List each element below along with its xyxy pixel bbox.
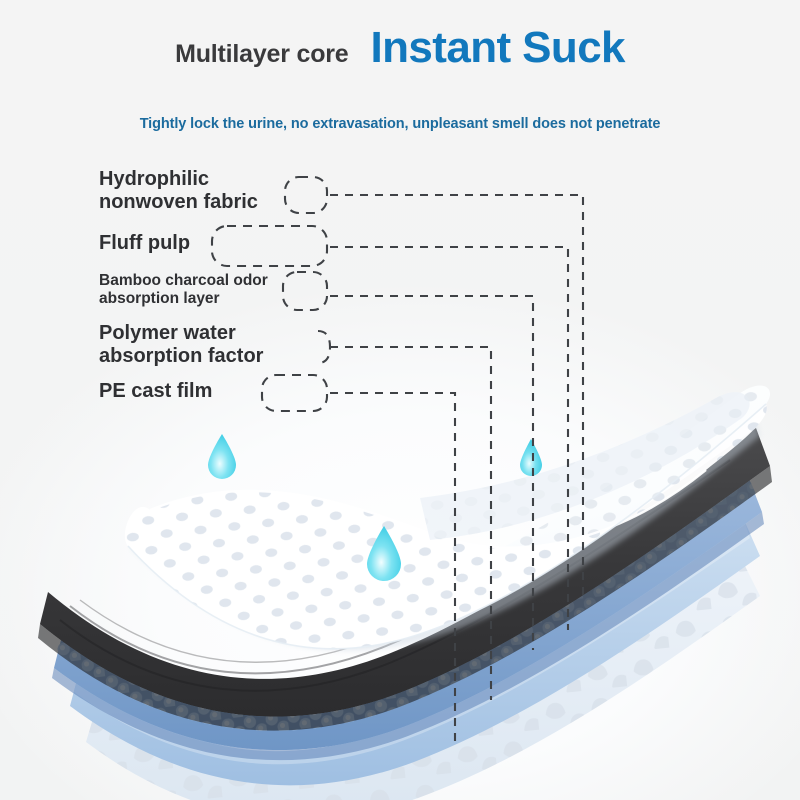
label-hydrophilic-nonwoven-fabric: Hydrophilic nonwoven fabric bbox=[99, 168, 294, 214]
connector-pe-cast-film bbox=[330, 393, 455, 745]
connector-bamboo-charcoal bbox=[330, 296, 533, 650]
label-pe-cast-film: PE cast film bbox=[99, 380, 274, 403]
infographic-canvas: Multilayer core Instant Suck Tightly loc… bbox=[0, 0, 800, 800]
header: Multilayer core Instant Suck bbox=[0, 26, 800, 70]
page-title: Instant Suck bbox=[371, 26, 625, 70]
connector-hydrophilic bbox=[330, 195, 583, 600]
callout-bracket-polymer bbox=[318, 331, 330, 363]
label-polymer-water-absorption-factor: Polymer water absorption factor bbox=[99, 322, 304, 368]
connector-polymer bbox=[330, 347, 491, 700]
label-bamboo-charcoal-odor-absorption-layer: Bamboo charcoal odor absorption layer bbox=[99, 272, 304, 308]
label-fluff-pulp: Fluff pulp bbox=[99, 232, 259, 255]
tagline: Tightly lock the urine, no extravasation… bbox=[0, 116, 800, 132]
page-subtitle: Multilayer core bbox=[175, 40, 348, 69]
